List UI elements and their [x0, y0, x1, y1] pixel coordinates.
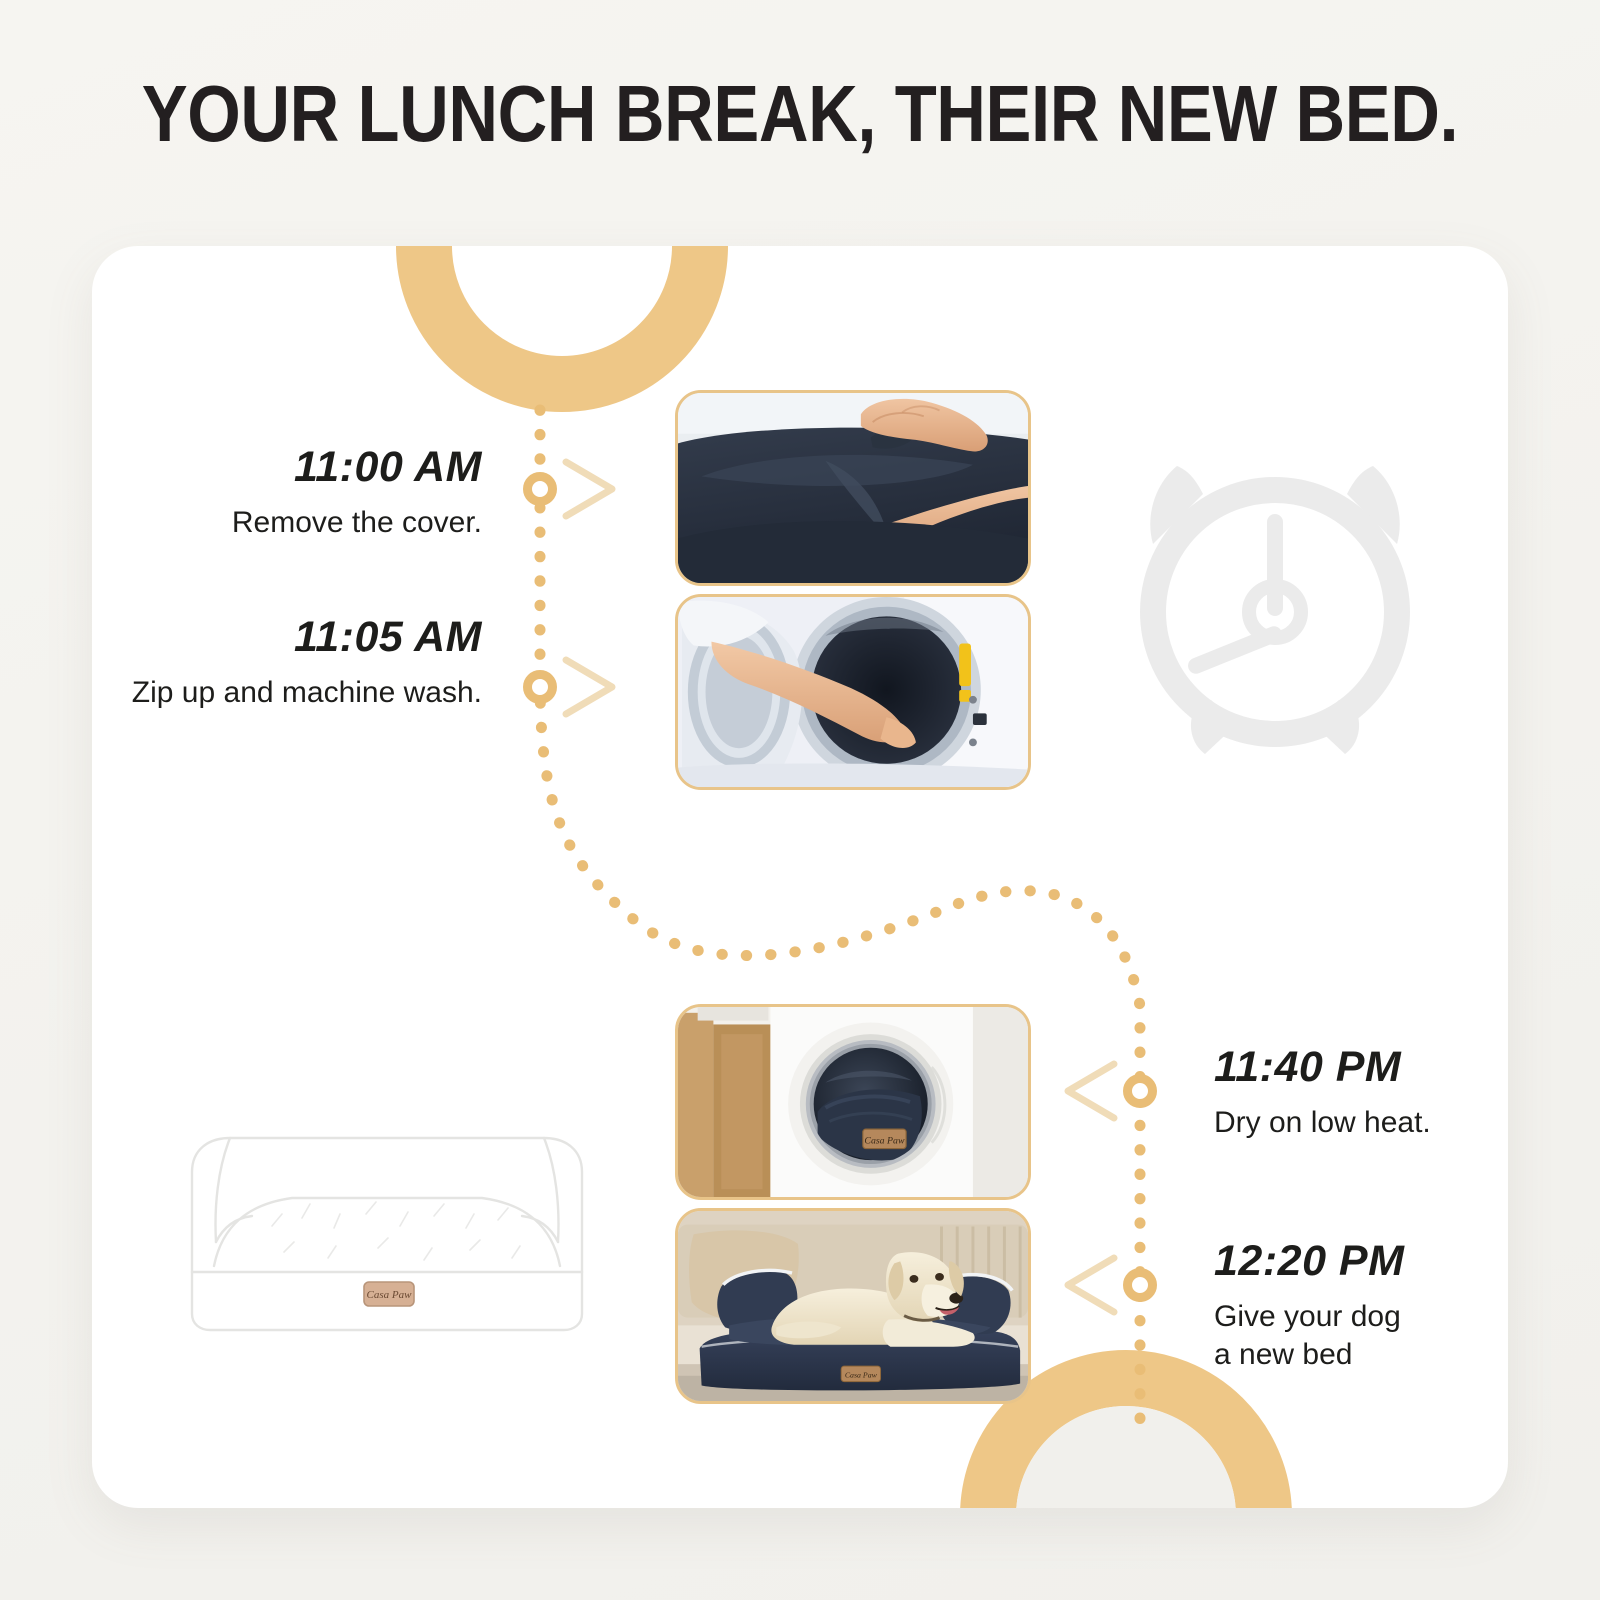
- timeline-step-remove-cover: 11:00 AM Remove the cover.: [142, 446, 482, 542]
- svg-text:Casa Paw: Casa Paw: [367, 1289, 413, 1301]
- photo-machine-wash: [675, 594, 1031, 790]
- step-time: 12:20 PM: [1214, 1240, 1508, 1283]
- dog-bed-outline-icon: Casa Paw: [152, 1076, 622, 1356]
- timeline-step-machine-wash: 11:05 AM Zip up and machine wash.: [112, 616, 482, 712]
- timeline-node-3: [1123, 1074, 1157, 1108]
- step-time: 11:00 AM: [142, 446, 482, 489]
- timeline-node-4: [1123, 1268, 1157, 1302]
- timeline-step-dry-low-heat: 11:40 PM Dry on low heat.: [1214, 1046, 1508, 1142]
- bed-brand-tag: Casa Paw: [364, 1282, 414, 1306]
- svg-text:Casa Paw: Casa Paw: [864, 1136, 905, 1147]
- infographic-canvas: YOUR LUNCH BREAK, THEIR NEW BED.: [0, 0, 1600, 1600]
- step-time: 11:40 PM: [1214, 1046, 1508, 1089]
- content-card: Casa Paw 11:00 AM Remove the cover. 11:0…: [92, 246, 1508, 1508]
- step-description: Zip up and machine wash.: [112, 674, 482, 712]
- gold-arc-top-icon: [396, 246, 728, 412]
- timeline-node-1: [523, 472, 557, 506]
- step-description: Dry on low heat.: [1214, 1104, 1508, 1142]
- svg-text:Casa Paw: Casa Paw: [845, 1371, 878, 1380]
- photo-dryer: Casa Paw: [675, 1004, 1031, 1200]
- alarm-clock-icon: [1125, 432, 1425, 772]
- step-description: Remove the cover.: [142, 504, 482, 542]
- photo-dog-on-bed: Casa Paw: [675, 1208, 1031, 1404]
- timeline-step-new-bed: 12:20 PM Give your dog a new bed: [1214, 1240, 1508, 1375]
- step-time: 11:05 AM: [112, 616, 482, 659]
- page-title: YOUR LUNCH BREAK, THEIR NEW BED.: [112, 68, 1488, 160]
- timeline-node-2: [523, 670, 557, 704]
- photo-remove-cover: [675, 390, 1031, 586]
- step-description: Give your dog a new bed: [1214, 1298, 1508, 1375]
